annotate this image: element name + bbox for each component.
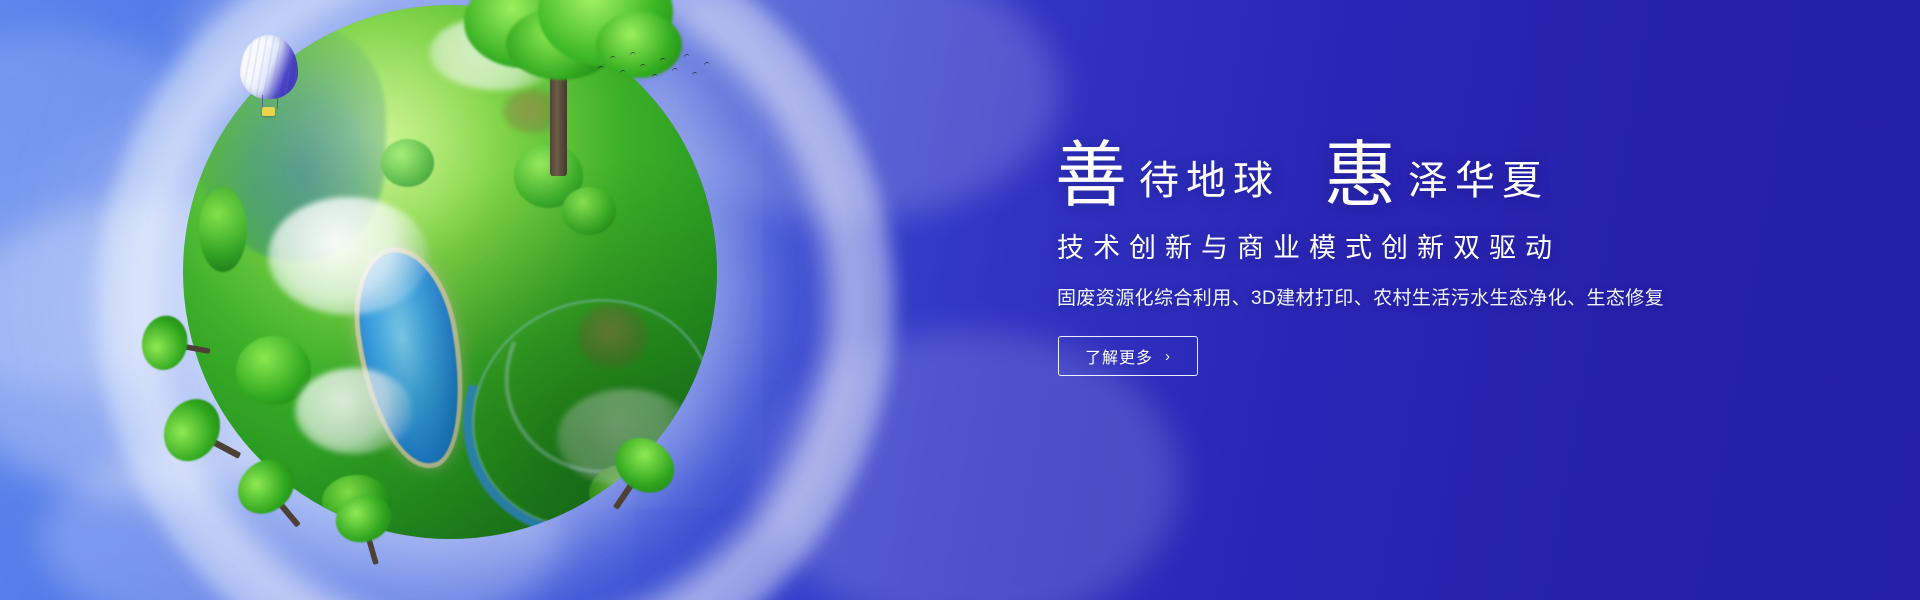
river <box>419 246 717 539</box>
hero-banner: 善待地球惠泽华夏 技术创新与商业模式创新双驱动 固废资源化综合利用、3D建材打印… <box>0 0 1920 600</box>
birds-flock-icon <box>596 48 716 88</box>
tree-cluster <box>381 139 434 187</box>
hero-content: 善待地球惠泽华夏 技术创新与商业模式创新双驱动 固废资源化综合利用、3D建材打印… <box>1055 140 1675 376</box>
headline-char-1: 善 <box>1055 136 1127 216</box>
learn-more-label: 了解更多 <box>1085 344 1153 368</box>
balloon-basket <box>262 107 275 116</box>
headline-phrase-1: 待地球 <box>1139 158 1280 203</box>
cloud-patch <box>295 368 412 453</box>
headline-phrase-2: 泽华夏 <box>1408 158 1549 203</box>
main-tree <box>446 0 676 182</box>
description: 固废资源化综合利用、3D建材打印、农村生活污水生态净化、生态修复 <box>1057 283 1675 310</box>
headline-char-2: 惠 <box>1324 136 1396 216</box>
learn-more-button[interactable]: 了解更多 › <box>1058 336 1198 376</box>
balloon-envelope <box>240 35 298 99</box>
hot-air-balloon-icon <box>240 35 298 119</box>
tree-cluster <box>236 336 311 405</box>
rim-tree <box>137 310 216 379</box>
lake <box>348 245 471 470</box>
tree-cluster <box>199 187 247 272</box>
tree-canopy <box>138 312 192 374</box>
tree-cluster <box>562 187 615 235</box>
page-title: 善待地球惠泽华夏 <box>1055 140 1675 212</box>
subtitle: 技术创新与商业模式创新双驱动 <box>1057 226 1675 265</box>
chevron-right-icon: › <box>1165 349 1171 364</box>
cloud-patch <box>268 197 428 314</box>
soil-patch <box>578 304 647 368</box>
